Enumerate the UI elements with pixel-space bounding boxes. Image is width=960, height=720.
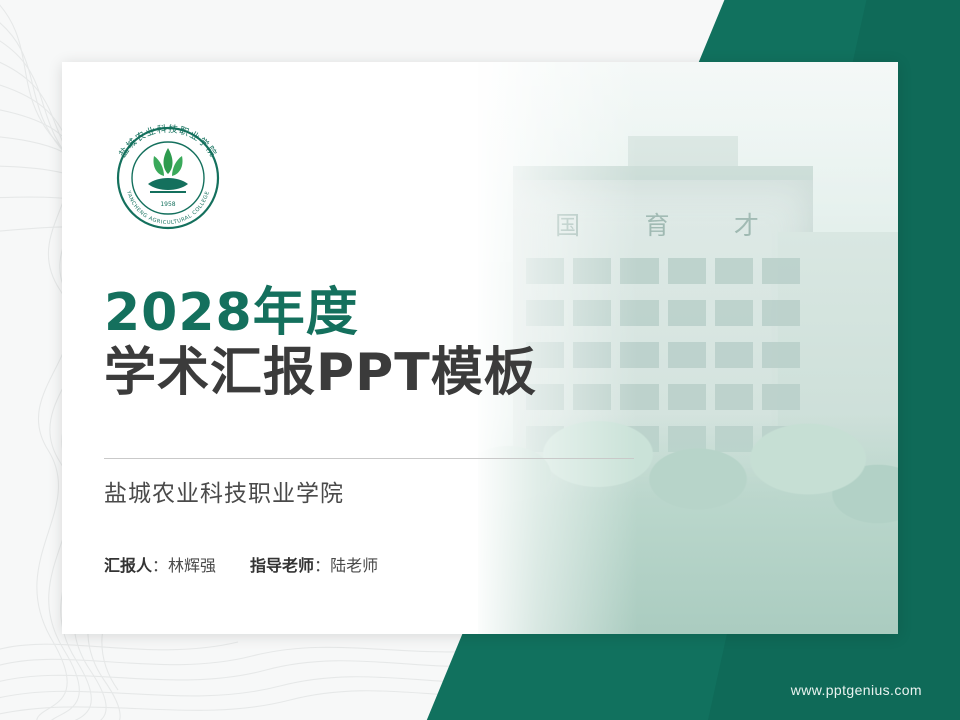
school-logo: 盐城农业科技职业学院 YANCHENG AGRICULTURAL COLLEGE…	[104, 114, 232, 242]
page-title-main: 学术汇报PPT模板	[104, 342, 624, 405]
content-card: 国 育 才 盐城农业科技职业学院	[62, 62, 898, 634]
school-name: 盐城农业科技职业学院	[104, 474, 344, 508]
presenter-name: 林辉强	[168, 552, 216, 576]
presenter-label: 汇报人	[104, 552, 152, 576]
logo-year: 1958	[160, 201, 175, 208]
title-block: 2028年度 学术汇报PPT模板	[104, 284, 624, 406]
logo-leaf-icon	[153, 148, 182, 176]
presenter-separator: ：	[152, 552, 168, 576]
page-title-year: 2028年度	[104, 284, 624, 342]
advisor-name: 陆老师	[330, 552, 378, 576]
advisor-separator: ：	[314, 552, 330, 576]
title-divider	[104, 458, 634, 459]
presenter-meta: 汇报人 ： 林辉强 指导老师 ： 陆老师	[104, 552, 378, 576]
advisor-label: 指导老师	[250, 552, 314, 576]
slide-canvas: 国 育 才 盐城农业科技职业学院	[0, 0, 960, 720]
footer-website-url: www.pptgenius.com	[791, 682, 922, 698]
logo-field-icon	[148, 178, 188, 190]
